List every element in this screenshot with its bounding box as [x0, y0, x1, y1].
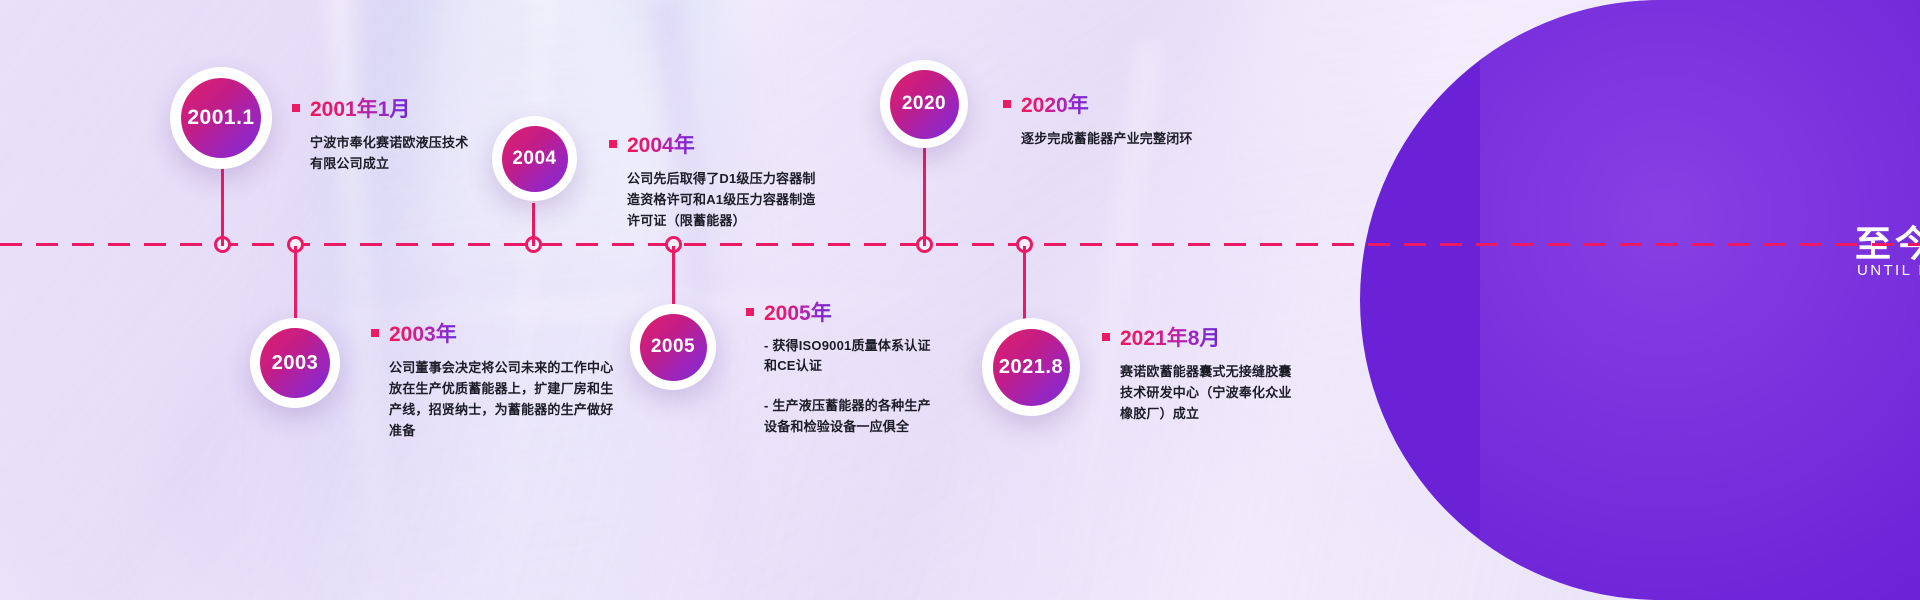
- timeline-entry-2004[interactable]: 2004年 公司先后取得了D1级压力容器制 造资格许可和A1级压力容器制造 许可…: [609, 129, 816, 231]
- entry-body: 公司先后取得了D1级压力容器制 造资格许可和A1级压力容器制造 许可证（限蓄能器…: [627, 168, 816, 231]
- entry-header: 2003年: [371, 318, 613, 348]
- timeline-entry-2005[interactable]: 2005年 - 获得ISO9001质量体系认证 和CE认证 - 生产液压蓄能器的…: [746, 297, 931, 437]
- entry-body: - 获得ISO9001质量体系认证 和CE认证 - 生产液压蓄能器的各种生产 设…: [764, 336, 931, 437]
- timeline-entry-2020[interactable]: 2020年 逐步完成蓄能器产业完整闭环: [1003, 89, 1193, 149]
- timeline-stem-2020: [923, 147, 926, 246]
- timeline-entry-2001[interactable]: 2001年1月 宁波市奉化赛诺欧液压技术 有限公司成立: [292, 93, 468, 174]
- timeline-stem-2001: [221, 168, 224, 246]
- entry-body: 逐步完成蓄能器产业完整闭环: [1021, 128, 1193, 149]
- timeline-stem-2005: [672, 246, 675, 304]
- bullet-square-icon: [371, 329, 379, 337]
- entry-body: 赛诺欧蓄能器囊式无接缝胶囊 技术研发中心（宁波奉化众业 橡胶厂）成立: [1120, 361, 1292, 424]
- entry-header: 2004年: [609, 129, 816, 159]
- entry-header: 2001年1月: [292, 93, 468, 123]
- entry-title: 2003年: [389, 318, 457, 348]
- entry-title: 2020年: [1021, 89, 1089, 119]
- timeline-bubble-2020[interactable]: 2020: [880, 60, 968, 148]
- bullet-square-icon: [292, 104, 300, 112]
- entry-body: 公司董事会决定将公司未来的工作中心 放在生产优质蓄能器上，扩建厂房和生 产线，招…: [389, 357, 613, 441]
- timeline-bubble-2001[interactable]: 2001.1: [170, 67, 272, 169]
- timeline-bubble-label: 2004: [502, 126, 568, 192]
- timeline-bubble-2021[interactable]: 2021.8: [982, 318, 1080, 416]
- timeline-bubble-label: 2020: [890, 70, 959, 139]
- timeline-bubble-2005[interactable]: 2005: [630, 304, 716, 390]
- timeline-bubble-label: 2001.1: [181, 78, 261, 158]
- entry-title: 2021年8月: [1120, 322, 1220, 352]
- entry-header: 2021年8月: [1102, 322, 1292, 352]
- entry-title: 2001年1月: [310, 93, 410, 123]
- timeline-stem-2004: [532, 203, 535, 246]
- until-now-label-en: UNTIL NOW: [1857, 262, 1920, 279]
- entry-header: 2020年: [1003, 89, 1193, 119]
- bullet-square-icon: [609, 140, 617, 148]
- bullet-square-icon: [1003, 100, 1011, 108]
- entry-body: 宁波市奉化赛诺欧液压技术 有限公司成立: [310, 132, 468, 174]
- timeline-bubble-2003[interactable]: 2003: [250, 318, 340, 408]
- timeline-bubble-label: 2003: [260, 328, 330, 398]
- panel-glow: [1480, 0, 1920, 600]
- timeline-entry-2021[interactable]: 2021年8月 赛诺欧蓄能器囊式无接缝胶囊 技术研发中心（宁波奉化众业 橡胶厂）…: [1102, 322, 1292, 424]
- until-now-label-cn: 至今: [1855, 215, 1920, 267]
- entry-title: 2005年: [764, 297, 832, 327]
- timeline-entry-2003[interactable]: 2003年 公司董事会决定将公司未来的工作中心 放在生产优质蓄能器上，扩建厂房和…: [371, 318, 613, 441]
- entry-title: 2004年: [627, 129, 695, 159]
- timeline-bubble-label: 2021.8: [993, 329, 1070, 406]
- bullet-square-icon: [746, 308, 754, 316]
- timeline-bubble-label: 2005: [640, 314, 707, 381]
- bullet-square-icon: [1102, 333, 1110, 341]
- timeline-stem-2021: [1023, 246, 1026, 320]
- entry-header: 2005年: [746, 297, 931, 327]
- timeline-bubble-2004[interactable]: 2004: [492, 116, 577, 201]
- timeline-stem-2003: [294, 246, 297, 320]
